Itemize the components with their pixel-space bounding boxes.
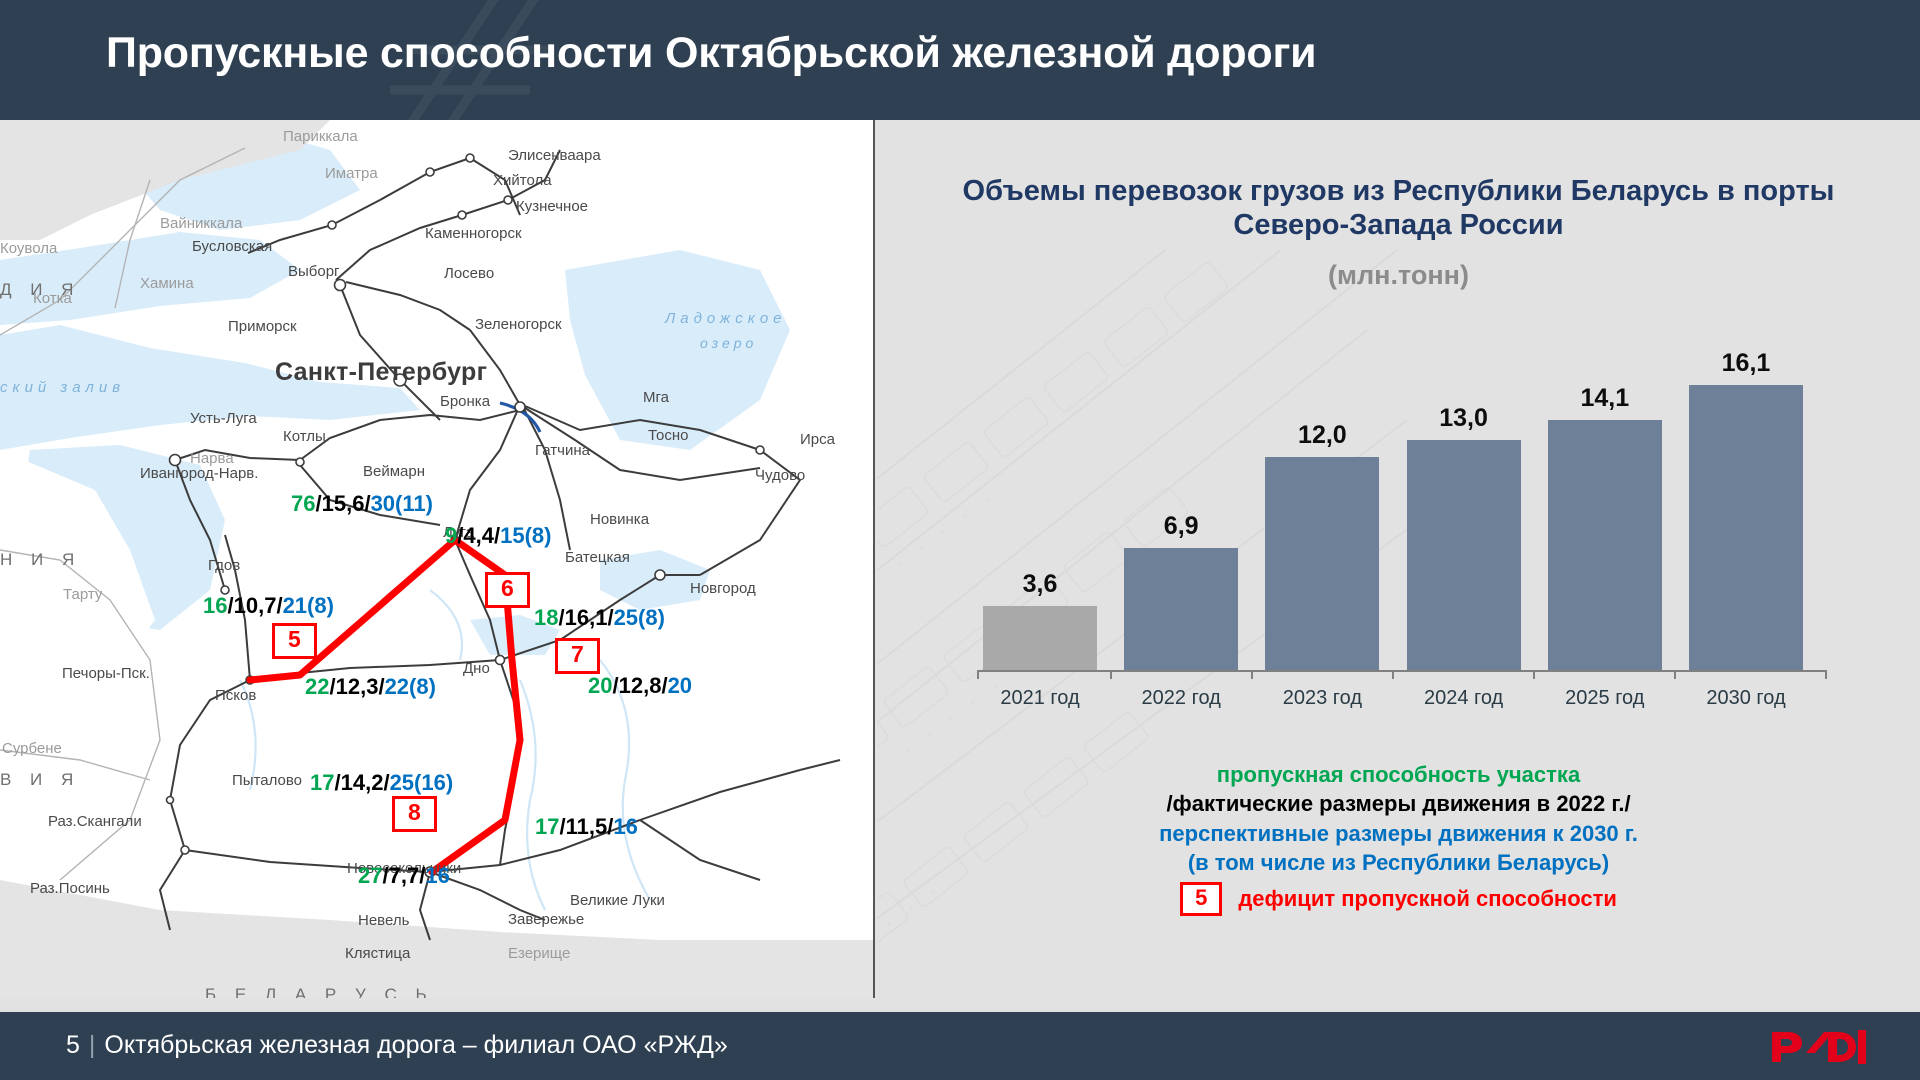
map-city-label: Мга — [643, 389, 669, 406]
map-city-label: Невель — [358, 912, 409, 929]
bar-value-label: 6,9 — [1164, 512, 1199, 541]
map-city-label: Новгород — [690, 580, 756, 597]
x-axis-label: 2024 год — [1389, 687, 1539, 710]
map-city-label: Котлы — [283, 428, 326, 445]
map-city-label: Хамина — [140, 275, 194, 292]
map-city-label: Выборг — [288, 263, 340, 280]
bar-column[interactable]: 3,6 — [983, 305, 1097, 670]
legend-deficit-box: 5 — [1180, 882, 1222, 916]
map-city-label: Париккала — [283, 128, 358, 145]
x-axis-end-cap — [1825, 670, 1827, 679]
x-axis-tick — [1533, 670, 1535, 679]
map-segment-capacity-label: 22/12,3/22(8) — [305, 674, 436, 700]
rzd-logo-icon — [1768, 1026, 1868, 1068]
bar-rect[interactable] — [1265, 457, 1379, 670]
x-axis-label: 2025 год — [1530, 687, 1680, 710]
map-deficit-badge: 6 — [485, 572, 530, 608]
map-city-label: Пыталово — [232, 772, 302, 789]
page-title: Пропускные способности Октябрьской желез… — [106, 29, 1316, 78]
map-city-label: Б Е Л А Р У С Ь — [205, 985, 434, 998]
slide-number: 5 — [66, 1031, 80, 1059]
legend-deficit-row: 5 дефицит пропускной способности — [877, 882, 1920, 916]
map-segment-capacity-label: 27/7,7/16 — [358, 863, 450, 889]
map-segment-capacity-label: 20/12,8/20 — [588, 673, 692, 699]
bar-value-label: 3,6 — [1023, 570, 1058, 599]
footer-caption: 5|Октябрьская железная дорога – филиал О… — [66, 1031, 728, 1060]
bar-rect[interactable] — [1407, 440, 1521, 670]
map-city-label: Лосево — [444, 265, 494, 282]
map-city-label: Сурбене — [2, 740, 62, 757]
slide-footer: 5|Октябрьская железная дорога – филиал О… — [0, 1012, 1920, 1080]
map-segment-capacity-label: 16/10,7/21(8) — [203, 593, 334, 619]
map-segment-capacity-label: 76/15,6/30(11) — [291, 491, 433, 517]
x-axis-label: 2022 год — [1106, 687, 1256, 710]
x-axis-label: 2021 год — [965, 687, 1115, 710]
footer-separator: | — [89, 1031, 96, 1059]
map-city-label: Санкт-Петербург — [275, 358, 487, 387]
legend-perspective-line: перспективные размеры движения к 2030 г. — [877, 819, 1920, 848]
map-city-label: Завережье — [508, 911, 584, 928]
map-city-label: Приморск — [228, 318, 297, 335]
bar-value-label: 16,1 — [1722, 349, 1771, 378]
x-axis-label: 2030 год — [1671, 687, 1821, 710]
map-city-label: Тарту — [63, 586, 102, 603]
bar-value-label: 12,0 — [1298, 421, 1347, 450]
map-city-label: Тосно — [648, 427, 688, 444]
map-city-label: Усть-Луга — [190, 410, 257, 427]
bar-column[interactable]: 16,1 — [1689, 305, 1803, 670]
map-city-label: Хийтола — [493, 172, 552, 189]
map-segment-capacity-label: 17/14,2/25(16) — [310, 770, 453, 796]
legend-deficit-label: дефицит пропускной способности — [1238, 886, 1617, 912]
map-city-label: Веймарн — [363, 463, 425, 480]
map-segment-capacity-label: 17/11,5/16 — [535, 814, 638, 840]
map-city-label: Батецкая — [565, 549, 630, 566]
bar-rect[interactable] — [1548, 420, 1662, 670]
chart-panel: Объемы перевозок грузов из Республики Бе… — [877, 120, 1920, 998]
map-city-label: Гдов — [208, 557, 240, 574]
map-city-label: Чудово — [755, 467, 805, 484]
bar-column[interactable]: 12,0 — [1265, 305, 1379, 670]
map-city-label: Ладожское — [665, 310, 787, 327]
bar-value-label: 13,0 — [1439, 404, 1488, 433]
legend-belarus-line: (в том числе из Республики Беларусь) — [877, 848, 1920, 877]
x-axis-line — [977, 670, 1827, 672]
footer-org-name: Октябрьская железная дорога – филиал ОАО… — [104, 1031, 727, 1059]
bar-column[interactable]: 14,1 — [1548, 305, 1662, 670]
map-city-label: Раз.Скангали — [48, 813, 142, 830]
x-axis-tick — [1110, 670, 1112, 679]
map-city-label: Кузнечное — [516, 198, 588, 215]
map-city-label: озеро — [700, 335, 757, 351]
x-axis-label: 2023 год — [1247, 687, 1397, 710]
map-city-label: Псков — [215, 687, 256, 704]
map-city-label: Бронка — [440, 393, 490, 410]
chart-title: Объемы перевозок грузов из Республики Бе… — [877, 175, 1920, 243]
map-city-label: Раз.Посинь — [30, 880, 110, 897]
legend-fact-line: /фактические размеры движения в 2022 г./ — [877, 789, 1920, 818]
map-city-label: Иматра — [325, 165, 378, 182]
bar-chart: 3,66,912,013,014,116,1 2021 год2022 год2… — [977, 305, 1827, 725]
map-deficit-badge: 8 — [392, 796, 437, 832]
bar-rect[interactable] — [1689, 385, 1803, 670]
bar-rect[interactable] — [983, 606, 1097, 670]
slide-root: Пропускные способности Октябрьской желез… — [0, 0, 1920, 1080]
x-axis-tick — [1392, 670, 1394, 679]
map-legend: пропускная способность участка /фактичес… — [877, 760, 1920, 916]
bar-column[interactable]: 6,9 — [1124, 305, 1238, 670]
map-city-label: Н И Я — [0, 550, 81, 570]
legend-capacity-line: пропускная способность участка — [877, 760, 1920, 789]
map-city-label: Ирса — [800, 431, 835, 448]
map-city-label: Гатчина — [535, 442, 590, 459]
map-city-label: Езерище — [508, 945, 570, 962]
map-panel[interactable]: ПариккалаЭлисенваараХийтолаИматраКузнечн… — [0, 120, 875, 998]
map-city-label: Каменногорск — [425, 225, 522, 242]
map-city-label: Великие Луки — [570, 892, 665, 909]
slide-header: Пропускные способности Октябрьской желез… — [0, 0, 1920, 120]
x-axis-tick — [1251, 670, 1253, 679]
map-segment-capacity-label: 18/16,1/25(8) — [534, 605, 665, 631]
map-segment-capacity-label: 9/4,4/15(8) — [445, 523, 551, 549]
x-axis-end-cap — [977, 670, 979, 679]
map-city-label: Зеленогорск — [475, 316, 562, 333]
chart-unit-label: (млн.тонн) — [877, 260, 1920, 291]
map-city-label: Ивангород-Нарв. — [140, 465, 258, 482]
map-city-label: ский залив — [0, 379, 125, 396]
x-axis-tick — [1674, 670, 1676, 679]
map-city-label: Коувола — [0, 240, 57, 257]
map-city-label: Клястица — [345, 945, 410, 962]
map-city-label: Дно — [463, 660, 490, 677]
bar-rect[interactable] — [1124, 548, 1238, 670]
map-city-label: Новинка — [590, 511, 649, 528]
map-city-label: Элисенваара — [508, 147, 601, 164]
map-city-label: Вайниккала — [160, 215, 242, 232]
bar-chart-plot: 3,66,912,013,014,116,1 — [977, 305, 1827, 670]
bar-value-label: 14,1 — [1580, 384, 1629, 413]
map-city-label: В И Я — [0, 770, 80, 790]
map-city-label: Печоры-Пск. — [62, 665, 150, 682]
bar-column[interactable]: 13,0 — [1407, 305, 1521, 670]
map-deficit-badge: 5 — [272, 623, 317, 659]
map-deficit-badge: 7 — [555, 638, 600, 674]
map-city-label: Д И Я — [0, 280, 80, 300]
map-city-label: Бусловская — [192, 238, 272, 255]
